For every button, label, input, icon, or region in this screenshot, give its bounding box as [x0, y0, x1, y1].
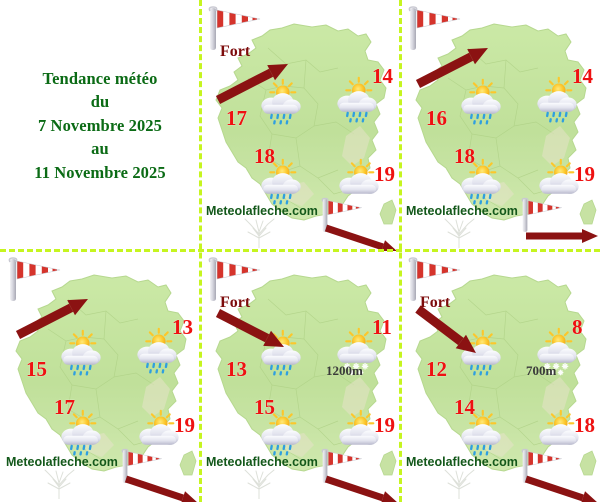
temperature-nord-est: 14: [372, 66, 393, 87]
tree-icon: [236, 216, 282, 251]
temperature-nord-est: 14: [572, 66, 593, 87]
temperature-sud-est: 19: [374, 415, 395, 436]
temperature-sud-est: 18: [574, 415, 595, 436]
wind-direction-arrow-icon: [414, 40, 506, 92]
temperature-sud-ouest: 15: [254, 397, 275, 418]
title-line-3: 7 Novembre 2025: [38, 114, 162, 137]
temperature-nord-ouest: 12: [426, 359, 447, 380]
title-line-2: du: [91, 90, 110, 113]
temperature-nord-est: 8: [572, 317, 583, 338]
forecast-panel-4[interactable]: 13: [200, 251, 400, 502]
temperature-nord-ouest: 17: [226, 108, 247, 129]
wind-direction-arrow-secondary-icon: [322, 212, 400, 251]
temperature-nord-ouest: 13: [226, 359, 247, 380]
title-line-4: au: [91, 137, 109, 160]
title-line-5: 11 Novembre 2025: [34, 161, 165, 184]
wind-direction-arrow-icon: [414, 307, 506, 359]
temperature-sud-ouest: 14: [454, 397, 475, 418]
snow-altitude-label: 700m: [526, 363, 556, 379]
tree-icon: [36, 467, 82, 502]
wind-direction-arrow-icon: [214, 56, 306, 108]
temperature-sud-est: 19: [374, 164, 395, 185]
watermark-text: Meteolafleche.com: [406, 204, 518, 218]
forecast-panel-1[interactable]: 17: [200, 0, 400, 251]
tree-icon: [236, 467, 282, 502]
tree-icon: [436, 216, 482, 251]
wind-direction-arrow-secondary-icon: [522, 463, 600, 502]
watermark-text: Meteolafleche.com: [6, 455, 118, 469]
strong-wind-label: Fort: [420, 294, 450, 312]
wind-direction-arrow-secondary-icon: [122, 463, 200, 502]
watermark-text: Meteolafleche.com: [406, 455, 518, 469]
tree-icon: [436, 467, 482, 502]
watermark-text: Meteolafleche.com: [206, 455, 318, 469]
strong-wind-label: Fort: [220, 43, 250, 61]
temperature-sud-ouest: 18: [254, 146, 275, 167]
temperature-sud-est: 19: [574, 164, 595, 185]
temperature-nord-ouest: 16: [426, 108, 447, 129]
temperature-nord-est: 11: [372, 317, 392, 338]
snow-altitude-label: 1200m: [326, 363, 363, 379]
forecast-panel-5[interactable]: 12: [400, 251, 600, 502]
weather-forecast-page: Tendance météo du 7 Novembre 2025 au 11 …: [0, 0, 600, 502]
temperature-nord-est: 13: [172, 317, 193, 338]
forecast-panel-2[interactable]: 16: [400, 0, 600, 251]
wind-direction-arrow-icon: [214, 307, 306, 359]
temperature-sud-ouest: 18: [454, 146, 475, 167]
wind-direction-arrow-secondary-icon: [322, 463, 400, 502]
forecast-title: Tendance météo du 7 Novembre 2025 au 11 …: [0, 0, 200, 251]
grid-divider-horizontal: [0, 249, 600, 252]
temperature-nord-ouest: 15: [26, 359, 47, 380]
watermark-text: Meteolafleche.com: [206, 204, 318, 218]
wind-direction-arrow-secondary-icon: [522, 212, 600, 251]
temperature-sud-ouest: 17: [54, 397, 75, 418]
title-panel: Tendance météo du 7 Novembre 2025 au 11 …: [0, 0, 200, 251]
strong-wind-label: Fort: [220, 294, 250, 312]
temperature-sud-est: 19: [174, 415, 195, 436]
wind-direction-arrow-icon: [14, 291, 106, 343]
forecast-panel-3[interactable]: 15: [0, 251, 200, 502]
title-line-1: Tendance météo: [43, 67, 158, 90]
